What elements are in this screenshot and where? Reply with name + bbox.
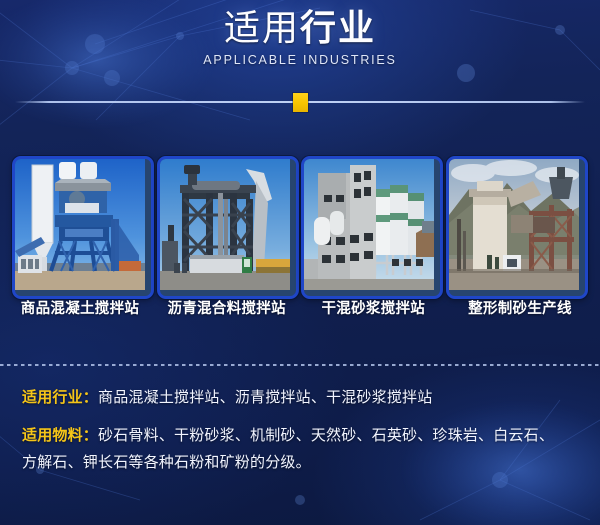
page-title: 适用行业 (224, 8, 376, 48)
dry-mortar-mixing-plant-photo (304, 159, 440, 296)
info-row-industries: 适用行业：商品混凝土搅拌站、沥青搅拌站、干混砂浆搅拌站 (22, 384, 582, 411)
industry-card[interactable] (301, 156, 443, 299)
info-value-industries: 商品混凝土搅拌站、沥青搅拌站、干混砂浆搅拌站 (98, 389, 432, 406)
industry-card[interactable] (446, 156, 588, 299)
industry-caption: 整形制砂生产线 (452, 299, 588, 321)
industry-caption: 沥青混合料搅拌站 (159, 299, 295, 321)
info-block: 适用行业：商品混凝土搅拌站、沥青搅拌站、干混砂浆搅拌站 适用物料：砂石骨料、干粉… (22, 384, 582, 487)
industry-caption: 干混砂浆搅拌站 (305, 299, 441, 321)
industry-caption-list: 商品混凝土搅拌站 沥青混合料搅拌站 干混砂浆搅拌站 整形制砂生产线 (12, 299, 588, 321)
sand-making-production-line-photo (449, 159, 585, 296)
page-title-part1: 适用 (224, 7, 300, 48)
asphalt-mixing-plant-photo (160, 159, 296, 296)
banner-header: 适用行业 APPLICABLE INDUSTRIES (0, 0, 600, 86)
info-row-materials: 适用物料：砂石骨料、干粉砂浆、机制砂、天然砂、石英砂、珍珠岩、白云石、 方解石、… (22, 422, 582, 476)
info-value-materials: 砂石骨料、干粉砂浆、机制砂、天然砂、石英砂、珍珠岩、白云石、 (98, 427, 554, 444)
concrete-batching-plant-photo (15, 159, 151, 296)
industry-card[interactable] (157, 156, 299, 299)
page-title-part2: 行业 (300, 7, 376, 48)
applicable-industries-banner: 适用行业 APPLICABLE INDUSTRIES (0, 0, 600, 525)
industry-card[interactable] (12, 156, 154, 299)
industry-card-list (12, 156, 588, 293)
divider-marker-square (293, 93, 308, 112)
section-separator (0, 364, 600, 366)
info-value-materials-line2: 方解石、钾长石等各种石粉和矿粉的分级。 (22, 449, 582, 476)
industry-caption: 商品混凝土搅拌站 (12, 299, 148, 321)
info-label-materials: 适用物料： (22, 427, 98, 444)
title-divider (0, 93, 600, 115)
info-label-industries: 适用行业： (22, 389, 98, 406)
page-subtitle: APPLICABLE INDUSTRIES (203, 53, 396, 67)
